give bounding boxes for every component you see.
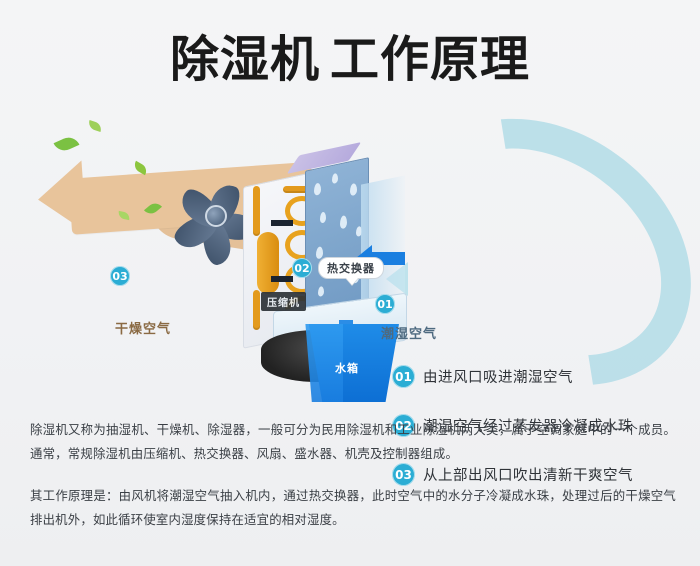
infographic-page: 除湿机工作原理	[0, 0, 700, 566]
heat-exchanger-label: 热交换器	[318, 257, 384, 279]
badge-02: 02	[292, 258, 312, 278]
title-part-1: 除湿机	[170, 31, 320, 88]
page-title: 除湿机工作原理	[0, 34, 700, 85]
legend-item-01: 01 由进风口吸进潮湿空气	[392, 365, 692, 388]
legend-text-01: 由进风口吸进潮湿空气	[423, 366, 573, 387]
dry-air-label: 干燥空气	[115, 318, 171, 337]
badge-01: 01	[375, 294, 395, 314]
compressor-label: 压缩机	[261, 292, 306, 311]
title-part-2: 工作原理	[330, 31, 530, 88]
callout-heat-exchanger: 02 热交换器	[292, 257, 384, 279]
callout-humid-air: 01	[375, 294, 395, 314]
paragraph-1: 除湿机又称为抽湿机、干燥机、除湿器，一般可分为民用除湿机和工业除湿机两大类，属于…	[30, 418, 676, 466]
humid-air-label: 潮湿空气	[381, 323, 437, 342]
dehumidifier-illustration: 水箱 压缩机 03 干燥空气 02 热交换器 01 潮湿空气 01 由进风口吸进…	[0, 110, 700, 400]
badge-03: 03	[110, 266, 130, 286]
callout-dry-air: 03	[110, 266, 130, 286]
leaf-icon	[87, 120, 103, 132]
leaf-icon	[54, 134, 80, 154]
water-tank-label: 水箱	[335, 360, 359, 376]
paragraph-2: 其工作原理是：由风机将潮湿空气抽入机内，通过热交换器，此时空气中的水分子冷凝成水…	[30, 484, 676, 532]
description-copy: 除湿机又称为抽湿机、干燥机、除湿器，一般可分为民用除湿机和工业除湿机两大类，属于…	[30, 418, 676, 550]
legend-badge-01: 01	[392, 365, 415, 388]
dry-airflow-arrowhead	[36, 160, 87, 235]
